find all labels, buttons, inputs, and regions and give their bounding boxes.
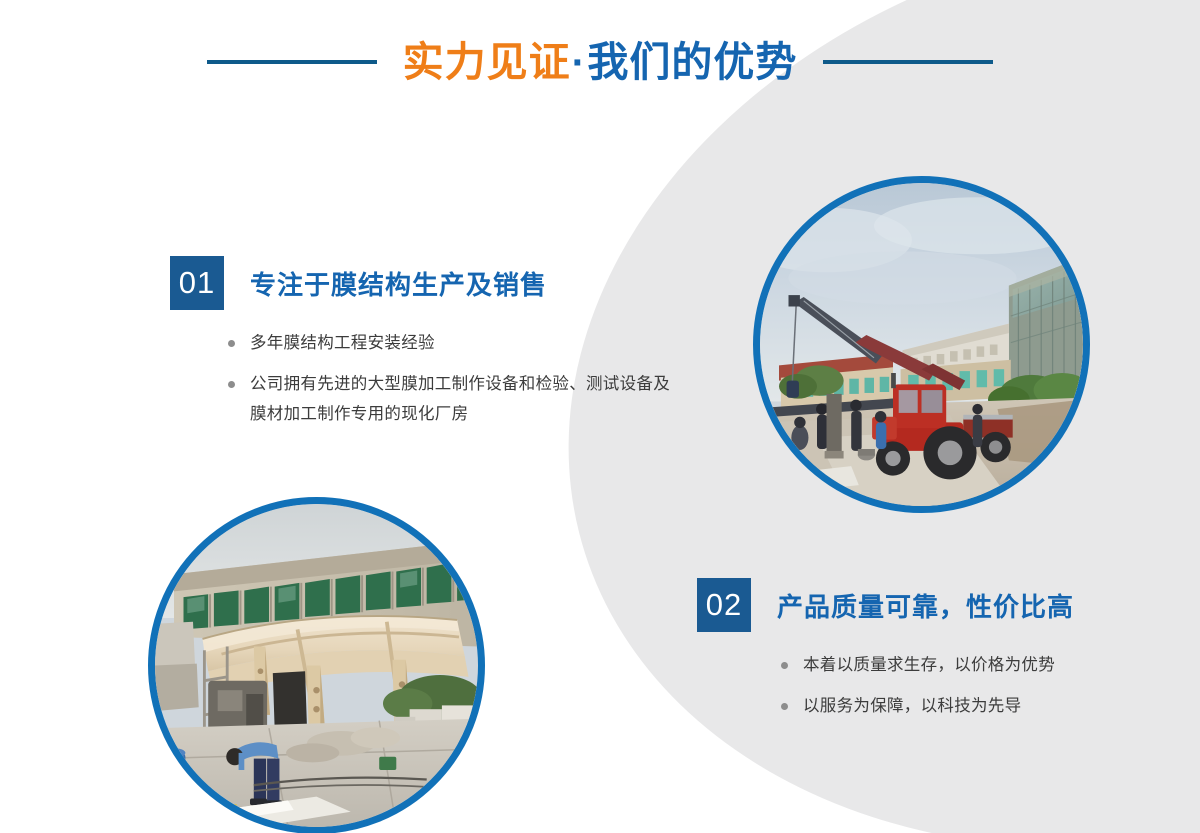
header-rule-left [207,60,377,64]
membrane-canopy-photo-clip [155,504,478,827]
feature-01-number-badge: 01 [170,256,224,310]
crane-tractor-photo-art [760,183,1083,506]
feature-01-heading-row: 01 专注于膜结构生产及销售 [170,256,664,310]
section-header: 实力见证·我们的优势 [0,22,1200,102]
feature-02-heading-row: 02 产品质量可靠，性价比高 [697,578,1074,632]
page-title-separator: · [571,39,588,85]
list-item: 公司拥有先进的大型膜加工制作设备和检验、测试设备及膜材加工制作专用的现化厂房 [224,369,680,430]
feature-block-02: 02 产品质量可靠，性价比高 本着以质量求生存，以价格为优势 以服务为保障，以科… [697,578,1074,731]
page-title-primary: 实力见证 [403,39,571,85]
crane-tractor-installation-photo [753,176,1090,513]
page-title-secondary: 我们的优势 [587,39,797,85]
membrane-canopy-photo-art [155,504,478,827]
membrane-canopy-construction-photo [148,497,485,833]
header-rule-right [823,60,993,64]
feature-block-01: 01 专注于膜结构生产及销售 多年膜结构工程安装经验 公司拥有先进的大型膜加工制… [170,256,664,440]
feature-02-bullet-list: 本着以质量求生存，以价格为优势 以服务为保障，以科技为先导 [777,650,1074,721]
feature-02-number-badge: 02 [697,578,751,632]
list-item: 以服务为保障，以科技为先导 [777,691,1074,722]
feature-02-title: 产品质量可靠，性价比高 [777,587,1074,624]
advantages-banner: 实力见证·我们的优势 01 专注于膜结构生产及销售 多年膜结构工程安装经验 公司… [0,0,1200,833]
feature-01-title: 专注于膜结构生产及销售 [250,265,547,302]
crane-tractor-photo-clip [760,183,1083,506]
list-item: 本着以质量求生存，以价格为优势 [777,650,1074,681]
list-item: 多年膜结构工程安装经验 [224,328,680,359]
page-title: 实力见证·我们的优势 [403,42,798,83]
feature-01-bullet-list: 多年膜结构工程安装经验 公司拥有先进的大型膜加工制作设备和检验、测试设备及膜材加… [224,328,664,430]
